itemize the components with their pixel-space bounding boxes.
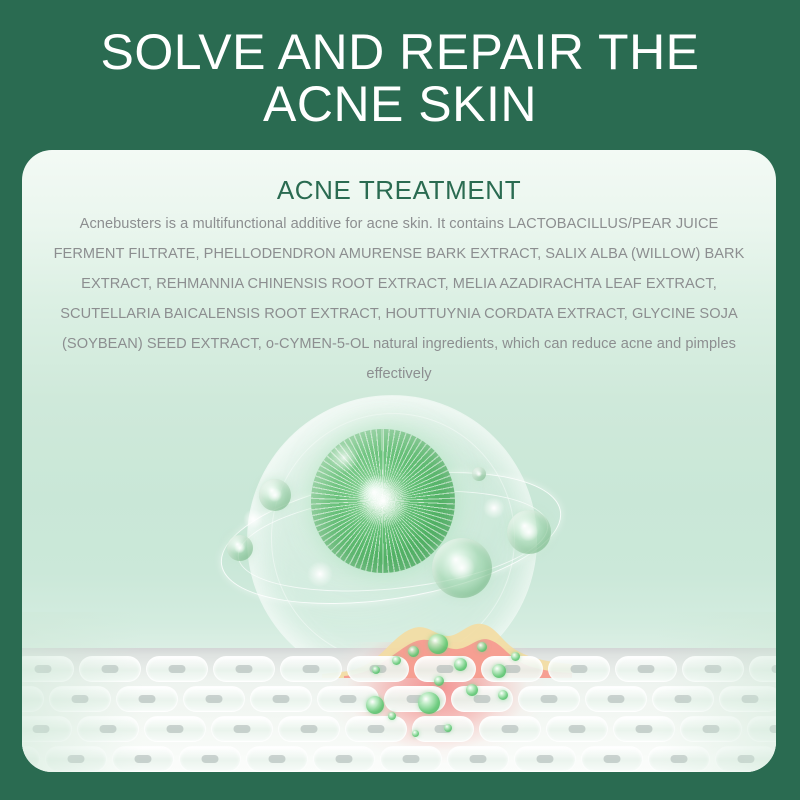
active-molecule-icon <box>392 656 401 665</box>
skin-cell <box>380 746 442 772</box>
active-molecule-icon <box>492 664 506 678</box>
page-title-line-1: SOLVE AND REPAIR THE <box>100 24 699 80</box>
satellite-molecule-icon <box>432 538 492 598</box>
active-molecule-icon <box>372 666 380 674</box>
sparkle-icon <box>243 509 263 529</box>
page-title: SOLVE AND REPAIR THE ACNE SKIN <box>0 26 800 130</box>
skin-cell <box>581 746 643 772</box>
content-card: ACNE TREATMENT Acnebusters is a multifun… <box>22 150 776 772</box>
skin-cell <box>345 716 407 742</box>
active-molecule-icon <box>434 676 444 686</box>
skin-cell <box>313 746 375 772</box>
section-description: Acnebusters is a multifunctional additiv… <box>44 209 754 389</box>
skin-cell <box>179 746 241 772</box>
satellite-molecule-icon <box>259 479 291 511</box>
skin-cell <box>278 716 340 742</box>
skin-left-fade <box>22 612 142 772</box>
skin-cell <box>585 686 647 712</box>
skin-cell <box>183 686 245 712</box>
skin-cell <box>447 746 509 772</box>
satellite-molecule-icon <box>472 467 486 481</box>
active-molecule-icon <box>412 730 419 737</box>
skin-cell <box>414 656 476 682</box>
skin-cell <box>479 716 541 742</box>
active-molecule-icon <box>408 646 419 657</box>
skin-cell <box>146 656 208 682</box>
active-molecule-icon <box>444 724 452 732</box>
page-title-line-2: ACNE SKIN <box>0 78 800 130</box>
active-molecule-icon <box>498 690 508 700</box>
sparkle-icon <box>329 443 359 473</box>
poster-canvas: SOLVE AND REPAIR THE ACNE SKIN ACNE TREA… <box>0 0 800 800</box>
active-molecule-icon <box>454 658 467 671</box>
skin-cell <box>250 686 312 712</box>
skin-cell <box>246 746 308 772</box>
skin-cell <box>144 716 206 742</box>
active-molecule-icon <box>511 652 520 661</box>
satellite-molecule-icon <box>227 535 253 561</box>
skin-cell <box>514 746 576 772</box>
active-molecule-icon <box>388 712 396 720</box>
skin-cell <box>518 686 580 712</box>
sparkle-icon <box>307 561 333 587</box>
skin-cell <box>280 656 342 682</box>
skin-cell <box>211 716 273 742</box>
skin-right-fade <box>656 612 776 772</box>
skin-cross-section-illustration <box>22 612 776 772</box>
active-molecule-icon <box>366 696 384 714</box>
skin-cell <box>546 716 608 742</box>
section-heading: ACNE TREATMENT <box>22 175 776 206</box>
satellite-molecule-icon <box>507 510 551 554</box>
skin-cell <box>548 656 610 682</box>
active-molecule-icon <box>418 692 440 714</box>
skin-cell <box>412 716 474 742</box>
active-molecule-icon <box>477 642 487 652</box>
active-molecule-icon <box>428 634 448 654</box>
skin-cell <box>213 656 275 682</box>
active-molecule-icon <box>466 684 478 696</box>
core-flare-icon <box>356 474 410 528</box>
sparkle-icon <box>483 497 505 519</box>
